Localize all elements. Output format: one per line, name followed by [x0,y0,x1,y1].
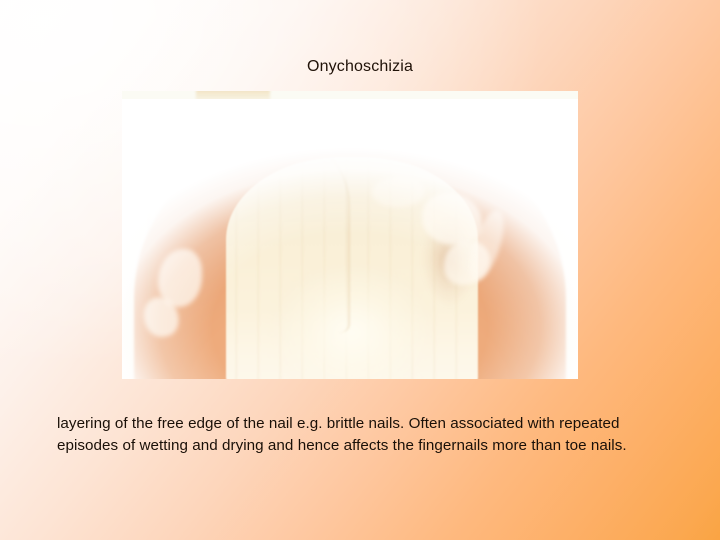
slide: Onychoschizia layering of the free edge … [0,0,720,540]
clinical-photo [122,91,578,379]
nail-proximal-notch [196,91,270,103]
page-title: Onychoschizia [0,57,720,77]
nail-flake-patch [372,177,424,207]
body-text: layering of the free edge of the nail e.… [57,413,665,457]
photo-canvas [122,91,578,379]
